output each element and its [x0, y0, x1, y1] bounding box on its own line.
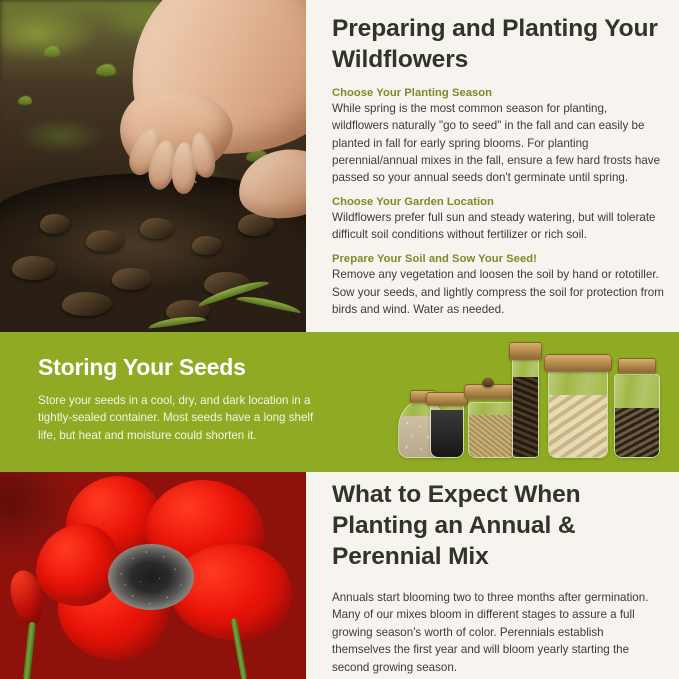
what-to-expect-body: Annuals start blooming two to three mont… — [332, 589, 663, 677]
what-to-expect-column: What to Expect When Planting an Annual &… — [306, 472, 679, 679]
what-to-expect-title: What to Expect When Planting an Annual &… — [332, 480, 663, 573]
seed-jar — [512, 354, 539, 458]
jar-contents — [469, 415, 515, 457]
jar-contents — [513, 377, 538, 457]
page-title: Preparing and Planting Your Wildflowers — [332, 14, 665, 75]
seed-jar — [548, 370, 608, 458]
storing-seeds-body: Store your seeds in a cool, dry, and dar… — [38, 392, 320, 444]
jar-contents — [549, 395, 607, 457]
seed-jar — [468, 402, 516, 458]
hand-sowing-seeds-in-soil-photo — [0, 0, 306, 332]
storing-seeds-text-block: Storing Your Seeds Store your seeds in a… — [38, 354, 320, 444]
jar-cork — [509, 342, 542, 360]
what-to-expect-section: What to Expect When Planting an Annual &… — [0, 472, 679, 679]
storing-seeds-title: Storing Your Seeds — [38, 354, 320, 381]
seed-storage-jars-photo — [392, 334, 670, 470]
preparing-planting-section: Preparing and Planting Your Wildflowers … — [0, 0, 679, 332]
jar-cork — [544, 354, 612, 372]
infographic-page: Preparing and Planting Your Wildflowers … — [0, 0, 679, 679]
jar-contents — [431, 410, 463, 457]
storing-seeds-band: Storing Your Seeds Store your seeds in a… — [0, 332, 679, 472]
paragraph-prepare-soil: Remove any vegetation and loosen the soi… — [332, 266, 665, 317]
seed-jar — [614, 374, 660, 458]
sprout-icon — [18, 96, 32, 105]
jar-cork — [618, 358, 656, 373]
jar-cork — [426, 392, 468, 406]
paragraph-planting-season: While spring is the most common season f… — [332, 100, 665, 186]
sprout-icon — [44, 46, 60, 57]
subheading-garden-location: Choose Your Garden Location — [332, 196, 665, 208]
subheading-prepare-soil: Prepare Your Soil and Sow Your Seed! — [332, 253, 665, 265]
jar-contents — [615, 408, 659, 457]
paragraph-garden-location: Wildflowers prefer full sun and steady w… — [332, 209, 665, 243]
red-poppy-flower-photo — [0, 472, 306, 679]
subheading-planting-season: Choose Your Planting Season — [332, 87, 665, 99]
poppy-stamens — [104, 538, 200, 616]
article-column: Preparing and Planting Your Wildflowers … — [306, 0, 679, 332]
jar-knob — [482, 378, 494, 388]
sprout-icon — [96, 64, 116, 76]
